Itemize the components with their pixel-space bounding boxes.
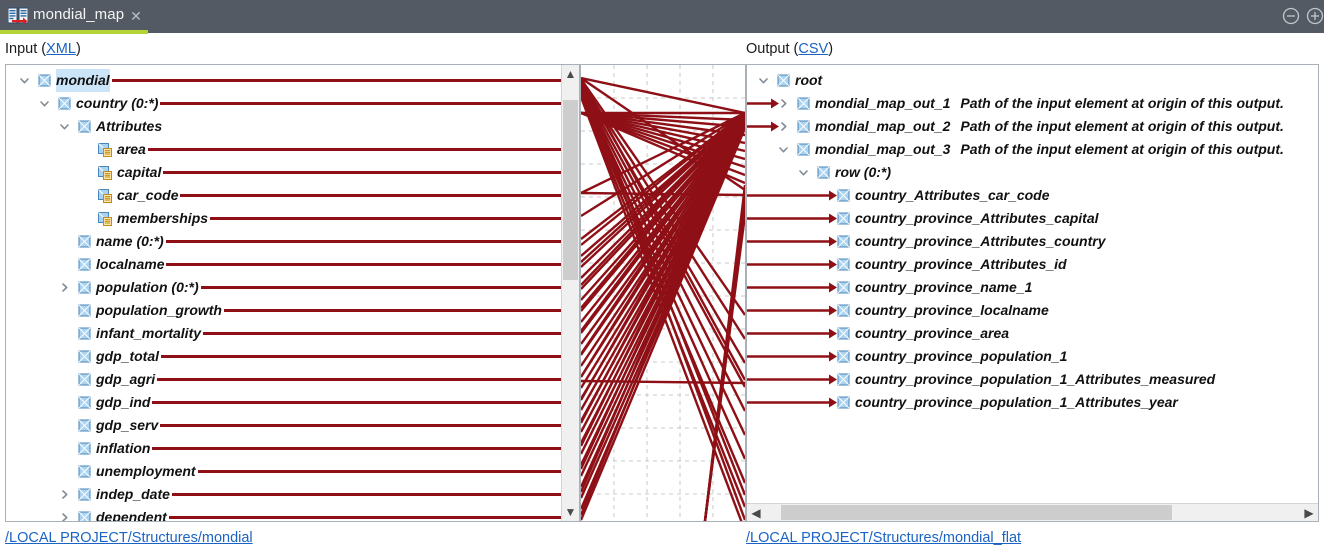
output-tree[interactable]: rootmondial_map_out_1Path of the input e… [747,65,1318,521]
input-vertical-scrollbar[interactable]: ▲ ▼ [561,65,579,521]
input-tree-row[interactable]: population (0:*) [6,276,563,299]
mapping-link-stub[interactable] [166,263,563,266]
mapping-link-stub[interactable] [210,217,563,220]
mapping-arrow-icon[interactable] [747,257,837,272]
tree-node-label[interactable]: name (0:*) [96,230,164,253]
mapping-link-stub[interactable] [160,102,563,105]
tree-node-label[interactable]: dependent [96,506,167,522]
tree-node-label[interactable]: root [795,69,822,92]
element-icon [837,304,850,317]
mapping-link-stub[interactable] [163,171,563,174]
output-tree-row[interactable]: country_province_localname [747,299,1318,322]
xml-mapping-icon [8,7,28,25]
tree-node-label[interactable]: country_province_area [855,322,1009,345]
input-tree-row[interactable]: gdp_serv [6,414,563,437]
output-tree-row[interactable]: country_province_name_1 [747,276,1318,299]
chevron-down-icon[interactable] [777,143,790,156]
tree-node-label[interactable]: Attributes [96,115,162,138]
mapping-link-stub[interactable] [201,286,563,289]
mapping-link-stub[interactable] [157,378,563,381]
chevron-down-icon[interactable] [18,74,31,87]
mapping-arrow-icon[interactable] [747,372,837,387]
input-tree[interactable]: mondialcountry (0:*)Attributesareacapita… [6,65,579,521]
mapping-link-stub[interactable] [172,493,563,496]
chevron-up-icon[interactable]: ▲ [562,65,579,83]
chevron-right-icon[interactable] [777,97,790,110]
output-format-link[interactable]: CSV [798,41,828,57]
output-tree-panel[interactable]: rootmondial_map_out_1Path of the input e… [746,64,1319,522]
tree-node-label[interactable]: gdp_total [96,345,159,368]
mapping-arrow-icon[interactable] [747,188,837,203]
element-icon [78,442,91,455]
input-tree-panel[interactable]: mondialcountry (0:*)Attributesareacapita… [5,64,580,522]
mapping-link-stub[interactable] [160,424,563,427]
element-icon [837,350,850,363]
output-tree-row[interactable]: row (0:*) [747,161,1318,184]
input-tree-row[interactable]: memberships [6,207,563,230]
output-label-suffix: ) [828,41,833,57]
output-tree-row[interactable]: mondial_map_out_2Path of the input eleme… [747,115,1318,138]
output-horizontal-scrollbar[interactable]: ◀ ▶ [747,503,1318,521]
chevron-right-icon[interactable] [58,511,71,522]
tree-node-label[interactable]: country_province_population_1_Attributes… [855,391,1178,414]
tab-title: mondial_map [33,6,124,23]
input-tree-row[interactable]: capital [6,161,563,184]
output-tree-row[interactable]: country_province_Attributes_country [747,230,1318,253]
input-tree-row[interactable]: dependent [6,506,563,522]
mapping-arrow-icon[interactable] [747,303,837,318]
element-icon [78,327,91,340]
mapping-link-stub[interactable] [198,470,563,473]
element-icon [837,189,850,202]
element-icon [78,373,91,386]
maximize-icon[interactable] [1305,6,1324,26]
element-icon [78,258,91,271]
input-label-prefix: Input ( [5,41,46,57]
mapping-link-stub[interactable] [112,79,563,82]
tree-node-label[interactable]: country_province_Attributes_capital [855,207,1099,230]
element-icon [78,120,91,133]
element-icon [837,212,850,225]
editor-tab-mondial-map[interactable]: mondial_map ✕ [0,0,148,33]
output-tree-row[interactable]: country_province_Attributes_id [747,253,1318,276]
element-icon [78,235,91,248]
mapping-arrow-icon[interactable] [747,119,779,134]
output-label-prefix: Output ( [746,41,798,57]
element-icon [58,97,71,110]
element-icon [78,511,91,522]
output-tree-row[interactable]: country_province_Attributes_capital [747,207,1318,230]
element-icon [78,419,91,432]
title-bar: mondial_map ✕ [0,0,1324,33]
chevron-right-icon[interactable] [777,120,790,133]
tree-node-label[interactable]: unemployment [96,460,196,483]
input-tree-row[interactable]: area [6,138,563,161]
tree-node-label[interactable]: country_province_localname [855,299,1049,322]
tree-node-label[interactable]: inflation [96,437,150,460]
tree-node-label[interactable]: country_province_population_1 [855,345,1067,368]
output-tree-row[interactable]: mondial_map_out_3Path of the input eleme… [747,138,1318,161]
mapping-link-stub[interactable] [152,401,563,404]
input-tree-row[interactable]: localname [6,253,563,276]
input-tree-row[interactable]: gdp_agri [6,368,563,391]
output-node-description: Path of the input element at origin of t… [960,115,1284,138]
mapping-link-stub[interactable] [180,194,563,197]
input-tree-row[interactable]: country (0:*) [6,92,563,115]
scrollbar-thumb[interactable] [563,100,578,281]
input-structure-path-link[interactable]: /LOCAL PROJECT/Structures/mondial [5,530,253,546]
mapping-arrow-icon[interactable] [747,395,837,410]
tree-node-label[interactable]: gdp_ind [96,391,150,414]
output-structure-path-link[interactable]: /LOCAL PROJECT/Structures/mondial_flat [746,530,1021,546]
tree-node-label[interactable]: population (0:*) [96,276,199,299]
chevron-down-icon[interactable] [38,97,51,110]
tree-node-label[interactable]: localname [96,253,164,276]
minimize-icon[interactable] [1281,6,1301,26]
tree-node-label[interactable]: country_province_Attributes_country [855,230,1106,253]
element-icon [817,166,830,179]
input-tree-row[interactable]: unemployment [6,460,563,483]
element-icon [78,465,91,478]
tree-node-label[interactable]: country (0:*) [76,92,158,115]
output-panel-label: Output (CSV) [746,41,833,57]
tree-node-label[interactable]: gdp_agri [96,368,155,391]
tree-node-label[interactable]: country_province_name_1 [855,276,1032,299]
input-tree-row[interactable]: indep_date [6,483,563,506]
chevron-right-icon[interactable] [58,281,71,294]
close-icon[interactable]: ✕ [129,9,143,23]
element-icon [78,396,91,409]
input-panel-label: Input (XML) [5,41,81,57]
attribute-icon [98,189,111,202]
tree-node-label[interactable]: gdp_serv [96,414,158,437]
chevron-down-icon[interactable] [797,166,810,179]
element-icon [78,304,91,317]
element-icon [797,143,810,156]
mapping-arrow-icon[interactable] [747,234,837,249]
input-tree-row[interactable]: car_code [6,184,563,207]
input-tree-row[interactable]: gdp_total [6,345,563,368]
element-icon [78,281,91,294]
chevron-down-icon[interactable] [757,74,770,87]
chevron-right-icon[interactable]: ▶ [1300,504,1318,521]
output-tree-row[interactable]: country_Attributes_car_code [747,184,1318,207]
output-tree-row[interactable]: country_province_population_1_Attributes… [747,368,1318,391]
mapping-link-stub[interactable] [148,148,563,151]
mapping-canvas-panel[interactable] [580,64,746,522]
tree-node-label[interactable]: country_Attributes_car_code [855,184,1050,207]
chevron-down-icon[interactable] [58,120,71,133]
input-tree-row[interactable]: gdp_ind [6,391,563,414]
input-tree-row[interactable]: population_growth [6,299,563,322]
input-label-suffix: ) [76,41,81,57]
element-icon [837,327,850,340]
input-tree-row[interactable]: mondial [6,69,563,92]
output-tree-row[interactable]: country_province_area [747,322,1318,345]
tree-node-label[interactable]: country_province_Attributes_id [855,253,1067,276]
output-node-description: Path of the input element at origin of t… [960,92,1284,115]
tree-node-label[interactable]: area [117,138,146,161]
element-icon [78,350,91,363]
input-tree-row[interactable]: inflation [6,437,563,460]
chevron-left-icon[interactable]: ◀ [747,504,765,521]
mapping-arrow-icon[interactable] [747,96,779,111]
mapping-link-stub[interactable] [224,309,563,312]
mapping-link-stub[interactable] [161,355,563,358]
tree-node-label[interactable]: mondial_map_out_3 [815,138,950,161]
tree-node-label[interactable]: mondial_map_out_1 [815,92,950,115]
input-tree-row[interactable]: infant_mortality [6,322,563,345]
mapping-arrow-icon[interactable] [747,349,837,364]
mapping-link-stub[interactable] [169,516,563,519]
tree-node-label[interactable]: car_code [117,184,178,207]
tree-node-label[interactable]: infant_mortality [96,322,201,345]
mapping-links-canvas[interactable] [581,65,745,521]
element-icon [38,74,51,87]
tree-node-label[interactable]: capital [117,161,161,184]
tree-node-label[interactable]: country_province_population_1_Attributes… [855,368,1215,391]
input-format-link[interactable]: XML [46,41,76,57]
chevron-right-icon[interactable] [58,488,71,501]
tree-node-label[interactable]: mondial_map_out_2 [815,115,950,138]
tree-node-label[interactable]: memberships [117,207,208,230]
mapping-arrow-icon[interactable] [747,211,837,226]
chevron-down-icon[interactable]: ▼ [562,503,579,521]
element-icon [797,97,810,110]
output-tree-row[interactable]: root [747,69,1318,92]
attribute-icon [98,143,111,156]
mapping-arrow-icon[interactable] [747,326,837,341]
element-icon [837,373,850,386]
mapping-link-stub[interactable] [203,332,563,335]
input-tree-row[interactable]: name (0:*) [6,230,563,253]
tree-node-label[interactable]: population_growth [96,299,222,322]
element-icon [777,74,790,87]
element-icon [797,120,810,133]
tree-node-label[interactable]: mondial [56,69,110,92]
mapping-arrow-icon[interactable] [747,280,837,295]
output-node-description: Path of the input element at origin of t… [960,138,1284,161]
element-icon [837,396,850,409]
input-tree-row[interactable]: Attributes [6,115,563,138]
element-icon [78,488,91,501]
scrollbar-thumb[interactable] [781,505,1172,520]
element-icon [837,235,850,248]
tree-node-label[interactable]: row (0:*) [835,161,891,184]
output-tree-row[interactable]: country_province_population_1_Attributes… [747,391,1318,414]
tree-node-label[interactable]: indep_date [96,483,170,506]
output-tree-row[interactable]: mondial_map_out_1Path of the input eleme… [747,92,1318,115]
output-tree-row[interactable]: country_province_population_1 [747,345,1318,368]
attribute-icon [98,212,111,225]
mapping-link-stub[interactable] [166,240,563,243]
attribute-icon [98,166,111,179]
element-icon [837,258,850,271]
mapping-link-stub[interactable] [152,447,563,450]
element-icon [837,281,850,294]
tab-active-accent [0,30,148,34]
